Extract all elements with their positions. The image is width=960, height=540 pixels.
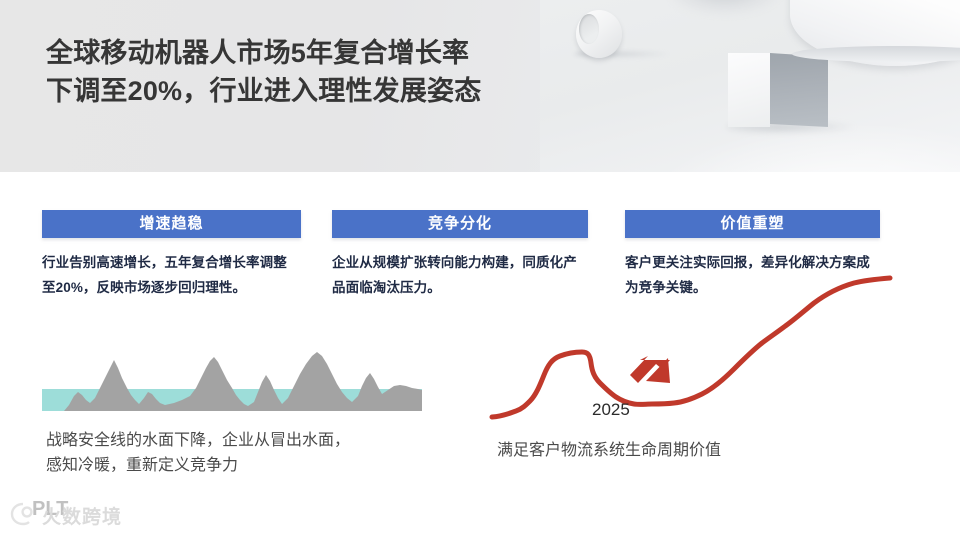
pillar-column-1: 增速趋稳 行业告别高速增长，五年复合增长率调整至20%，反映市场逐步回归理性。	[42, 210, 301, 300]
pillar-badge-2: 竞争分化	[332, 210, 588, 238]
cube-side-face-icon	[770, 53, 828, 127]
pillar-body-1: 行业告别高速增长，五年复合增长率调整至20%，反映市场逐步回归理性。	[42, 250, 292, 300]
mountain-caption: 战略安全线的水面下降，企业从冒出水面， 感知冷暖，重新定义竞争力	[46, 428, 446, 478]
trend-year-label: 2025	[592, 400, 630, 420]
pillar-badge-3: 价值重塑	[625, 210, 880, 238]
slide-root: 全球移动机器人市场5年复合增长率 下调至20%，行业进入理性发展姿态 增速趋稳 …	[0, 0, 960, 540]
watermark: PLT 火数跨境	[8, 498, 168, 532]
decline-arrow-icon	[630, 356, 670, 383]
header-banner: 全球移动机器人市场5年复合增长率 下调至20%，行业进入理性发展姿态	[0, 0, 960, 172]
pillar-badge-1: 增速趋稳	[42, 210, 301, 238]
trend-line-path	[492, 278, 890, 417]
watermark-brand: 火数跨境	[42, 502, 122, 529]
trend-line-chart	[470, 265, 920, 425]
cube-front-face-icon	[728, 53, 770, 127]
trend-caption: 满足客户物流系统生命周期价值	[497, 438, 897, 463]
mountain-waterline-chart	[42, 348, 422, 423]
page-title: 全球移动机器人市场5年复合增长率 下调至20%，行业进入理性发展姿态	[46, 34, 606, 110]
